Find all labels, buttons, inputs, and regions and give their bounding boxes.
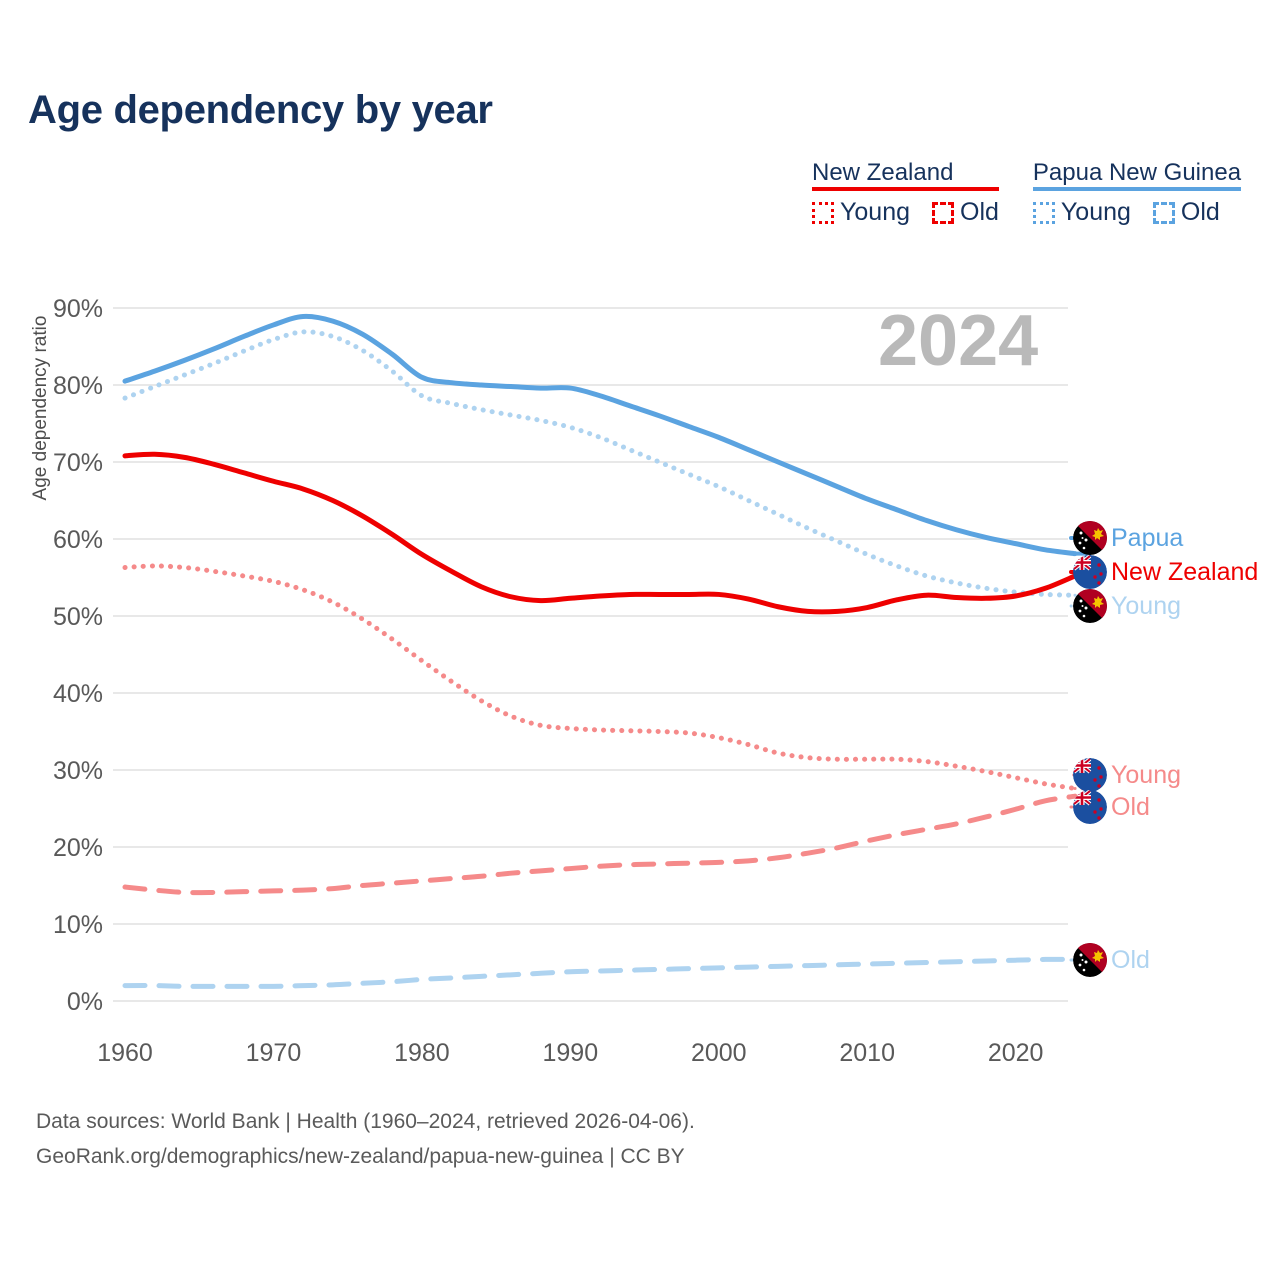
y-axis-tick-labels: 0%10%20%30%40%50%60%70%80%90% — [53, 295, 103, 1016]
y-tick-label: 50% — [53, 603, 103, 631]
year-watermark: 2024 — [878, 301, 1038, 381]
x-tick-label: 1970 — [246, 1039, 302, 1067]
y-tick-label: 60% — [53, 526, 103, 554]
y-tick-label: 10% — [53, 911, 103, 939]
flag-icon-papua-new-guinea — [1073, 589, 1107, 623]
line-chart: 0%10%20%30%40%50%60%70%80%90% 1960197019… — [0, 0, 1280, 1280]
x-axis-tick-labels: 1960197019801990200020102020 — [97, 1039, 1043, 1067]
footer-attribution: GeoRank.org/demographics/new-zealand/pap… — [36, 1140, 695, 1175]
y-tick-label: 70% — [53, 449, 103, 477]
footer: Data sources: World Bank | Health (1960–… — [36, 1105, 695, 1174]
plot-area: 0%10%20%30%40%50%60%70%80%90% 1960197019… — [0, 0, 1280, 1280]
series-line — [125, 454, 1075, 612]
y-tick-label: 0% — [67, 988, 103, 1016]
y-axis-title: Age dependency ratio — [30, 268, 52, 548]
series-end-label[interactable]: Old — [1111, 795, 1150, 820]
y-tick-label: 40% — [53, 680, 103, 708]
series-lines — [125, 316, 1075, 986]
x-tick-label: 1980 — [394, 1039, 450, 1067]
gridlines — [113, 308, 1068, 1001]
series-line — [125, 959, 1075, 986]
y-tick-label: 20% — [53, 834, 103, 862]
y-tick-label: 30% — [53, 757, 103, 785]
x-tick-label: 1990 — [543, 1039, 599, 1067]
x-tick-label: 1960 — [97, 1039, 153, 1067]
y-tick-label: 80% — [53, 372, 103, 400]
series-line — [125, 796, 1075, 892]
series-end-label[interactable]: New Zealand — [1111, 560, 1258, 585]
footer-data-sources: Data sources: World Bank | Health (1960–… — [36, 1105, 695, 1140]
x-tick-label: 2020 — [988, 1039, 1044, 1067]
flag-icon-new-zealand — [1073, 790, 1107, 824]
series-line — [125, 566, 1075, 789]
series-end-label[interactable]: Young — [1111, 594, 1181, 619]
series-end-label[interactable]: Old — [1111, 948, 1150, 973]
flag-icon-new-zealand — [1073, 555, 1107, 589]
x-tick-label: 2010 — [839, 1039, 895, 1067]
series-end-label[interactable]: Young — [1111, 763, 1181, 788]
flag-icon-papua-new-guinea — [1073, 521, 1107, 555]
series-end-label[interactable]: Papua — [1111, 526, 1183, 551]
y-tick-label: 90% — [53, 295, 103, 323]
flag-icon-new-zealand — [1073, 758, 1107, 792]
flag-icon-papua-new-guinea — [1073, 943, 1107, 977]
chart-page: Age dependency by year New Zealand Young… — [0, 0, 1280, 1280]
x-tick-label: 2000 — [691, 1039, 747, 1067]
